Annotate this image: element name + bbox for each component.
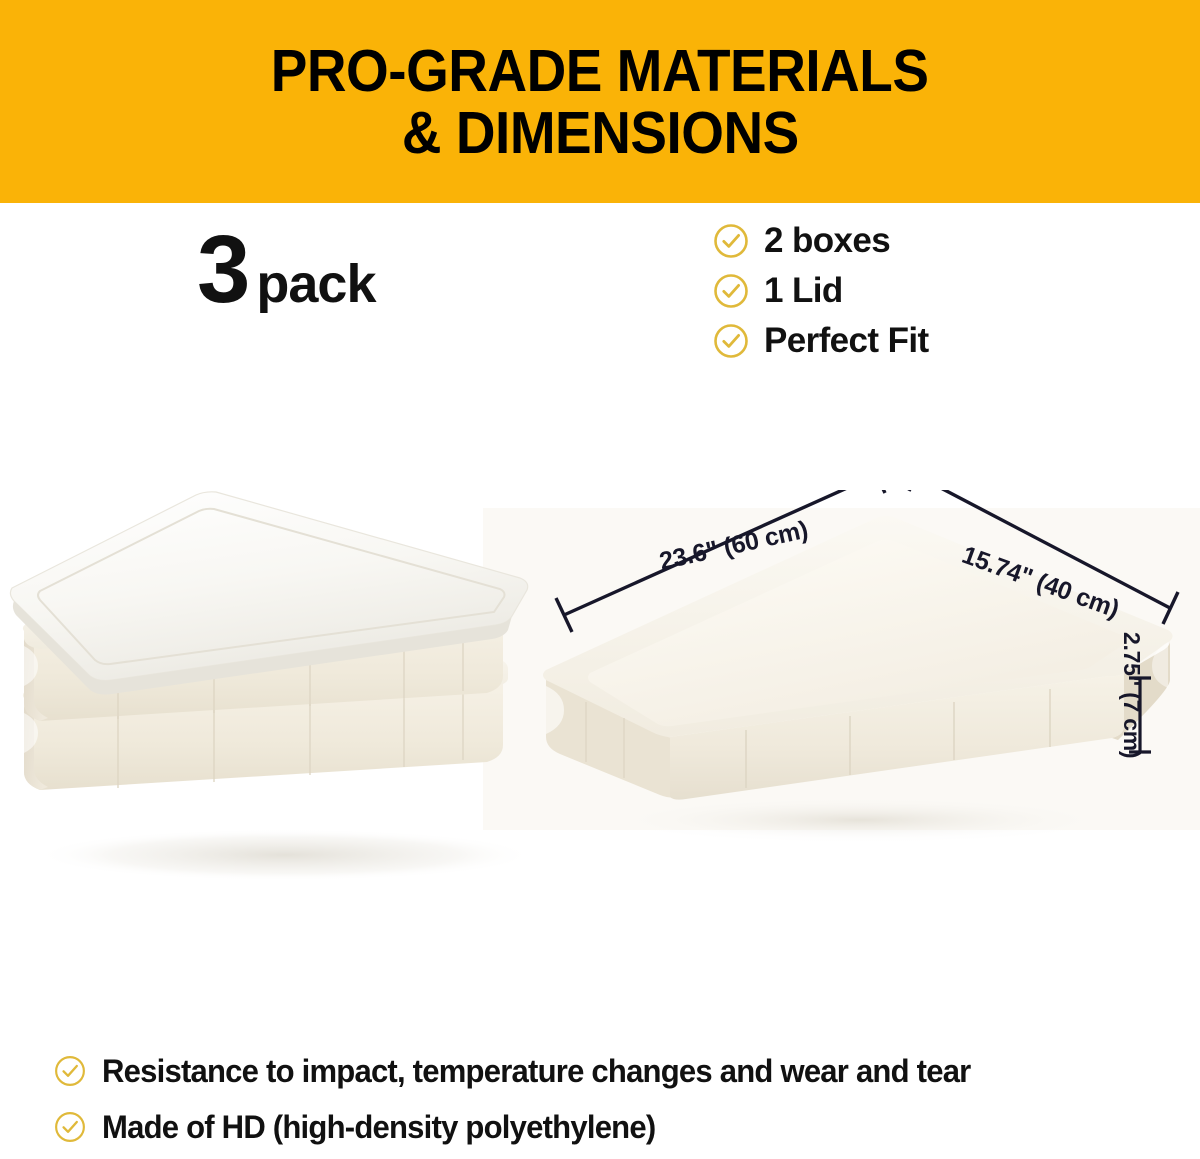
feature-list-bottom: Resistance to impact, temperature change… bbox=[53, 1053, 1173, 1159]
header-banner: PRO-GRADE MATERIALS & DIMENSIONS bbox=[0, 0, 1200, 203]
single-box-illustration bbox=[520, 490, 1200, 890]
page-title-line-2: & DIMENSIONS bbox=[402, 102, 799, 164]
check-circle-icon bbox=[712, 222, 750, 260]
pack-count-number: 3 bbox=[197, 222, 248, 318]
box-rim bbox=[543, 516, 1173, 737]
check-circle-icon bbox=[53, 1054, 87, 1088]
box-upper-front bbox=[24, 613, 503, 721]
list-item: 1 Lid bbox=[712, 272, 1172, 310]
pack-count-block: 3 pack bbox=[197, 222, 375, 318]
feature-label: 1 Lid bbox=[764, 272, 843, 310]
check-circle-icon bbox=[712, 272, 750, 310]
feature-label: Made of HD (high-density polyethylene) bbox=[102, 1109, 655, 1145]
height-dimension-label: 2.75" (7 cm) bbox=[1118, 632, 1145, 758]
feature-list-top: 2 boxes 1 Lid Perfect Fit bbox=[712, 222, 1172, 360]
stacked-boxes-illustration bbox=[0, 470, 600, 890]
infographic-page: PRO-GRADE MATERIALS & DIMENSIONS 3 pack … bbox=[0, 0, 1200, 1159]
list-item: 2 boxes bbox=[712, 222, 1172, 260]
product-imagery-stage bbox=[0, 470, 1200, 1030]
feature-label: Perfect Fit bbox=[764, 322, 929, 360]
check-circle-icon bbox=[53, 1110, 87, 1144]
box-front-wall bbox=[670, 673, 1124, 800]
list-item: Made of HD (high-density polyethylene) bbox=[53, 1109, 1173, 1145]
box-lower-front bbox=[24, 680, 503, 790]
list-item: Resistance to impact, temperature change… bbox=[53, 1053, 1173, 1089]
box-lid bbox=[10, 492, 527, 695]
page-title-line-1: PRO-GRADE MATERIALS bbox=[271, 40, 929, 102]
check-circle-icon bbox=[712, 322, 750, 360]
feature-label: 2 boxes bbox=[764, 222, 890, 260]
list-item: Perfect Fit bbox=[712, 322, 1172, 360]
feature-label: Resistance to impact, temperature change… bbox=[102, 1053, 970, 1089]
pack-count-word: pack bbox=[256, 257, 375, 311]
